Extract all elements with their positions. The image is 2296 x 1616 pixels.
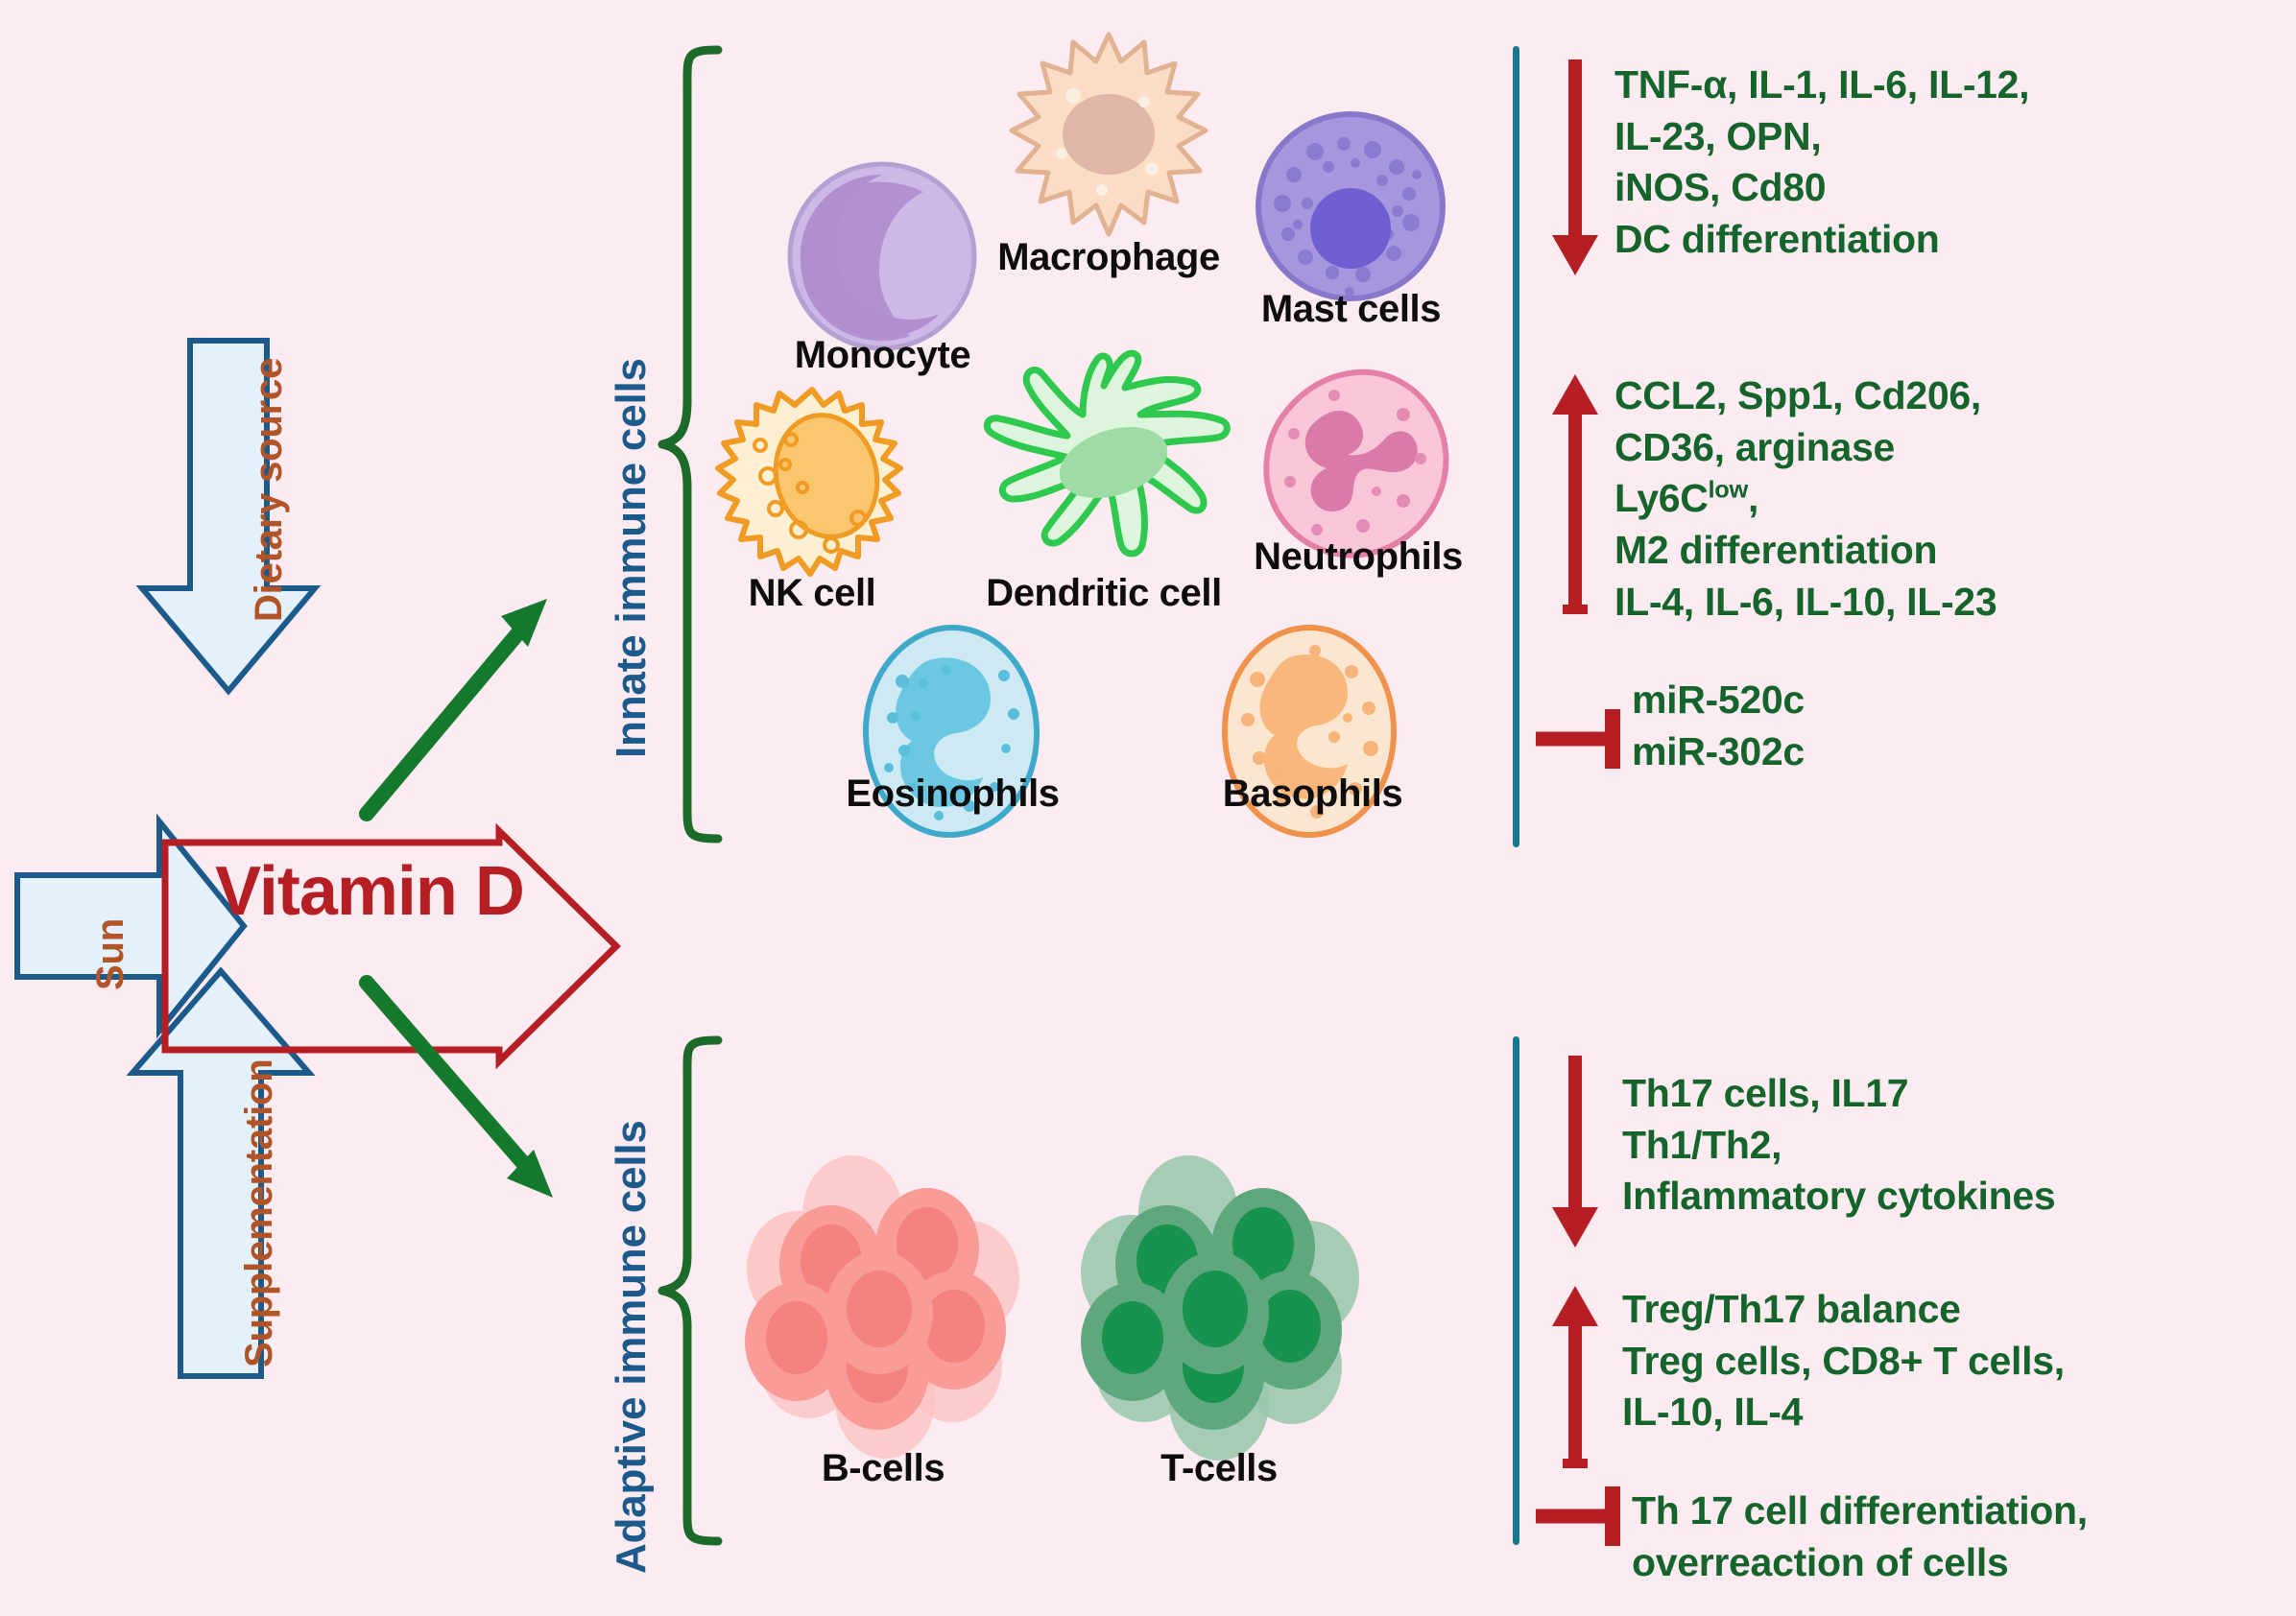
effect-line: Inflammatory cytokines	[1622, 1171, 2055, 1223]
adaptive-immune-cells-label: Adaptive immune cells	[608, 1120, 656, 1574]
adaptive-brace	[658, 1036, 726, 1545]
effect-line: Th17 cells, IL17	[1622, 1068, 2055, 1120]
effect-line: Th1/Th2,	[1622, 1120, 2055, 1172]
effect-line: Ly6Clow,	[1614, 473, 1997, 525]
dendritic-cell-label: Dendritic cell	[950, 572, 1257, 615]
dietary-source-label: Dietary source	[248, 358, 291, 622]
monocyte-label: Monocyte	[779, 334, 986, 377]
innate-divider	[1513, 46, 1519, 847]
mast-cells-figure	[1248, 104, 1454, 310]
vitamin-d-label: Vitamin D	[211, 852, 528, 931]
monocyte-figure	[779, 154, 986, 360]
basophils-label: Basophils	[1195, 772, 1430, 816]
effect-line: CCL2, Spp1, Cd206,	[1614, 370, 1997, 422]
innate-down-effects: TNF-α, IL-1, IL-6, IL-12, IL-23, OPN, iN…	[1614, 59, 2029, 266]
innate-up-effects: CCL2, Spp1, Cd206, CD36, arginase Ly6Clo…	[1614, 370, 1997, 629]
adaptive-up-effects: Treg/Th17 balance Treg cells, CD8+ T cel…	[1622, 1284, 2065, 1438]
adaptive-inhibit-symbol	[1536, 1483, 1620, 1550]
adaptive-down-effects: Th17 cells, IL17 Th1/Th2, Inflammatory c…	[1622, 1068, 2055, 1223]
effect-line: TNF-α, IL-1, IL-6, IL-12,	[1614, 59, 2029, 111]
neutrophils-label: Neutrophils	[1243, 535, 1473, 579]
connector-to-innate	[355, 566, 566, 825]
effect-line: miR-302c	[1632, 726, 1805, 778]
macrophage-figure	[998, 27, 1219, 248]
effect-line: IL-23, OPN,	[1614, 111, 2029, 163]
b-cells-label: B-cells	[739, 1447, 1027, 1490]
effect-line: Treg/Th17 balance	[1622, 1284, 2065, 1336]
effect-line: overreaction of cells	[1632, 1537, 2088, 1589]
neutrophils-figure	[1259, 367, 1456, 563]
adaptive-down-arrow	[1551, 1056, 1599, 1248]
b-cells-figure	[739, 1173, 1027, 1451]
adaptive-up-arrow	[1551, 1286, 1599, 1468]
macrophage-label: Macrophage	[960, 236, 1257, 279]
dendritic-cell-figure	[960, 347, 1248, 597]
innate-down-arrow	[1551, 59, 1599, 275]
adaptive-inhibit-effects: Th 17 cell differentiation, overreaction…	[1632, 1485, 2088, 1588]
innate-immune-cells-label: Innate immune cells	[608, 358, 656, 758]
dietary-source-arrow	[132, 341, 324, 696]
innate-inhibit-effects: miR-520c miR-302c	[1632, 675, 1805, 777]
t-cells-figure	[1075, 1173, 1363, 1451]
eosinophils-label: Eosinophils	[816, 772, 1089, 816]
effect-line: CD36, arginase	[1614, 422, 1997, 474]
innate-inhibit-symbol	[1536, 705, 1620, 772]
t-cells-label: T-cells	[1075, 1447, 1363, 1490]
effect-line: IL-10, IL-4	[1622, 1387, 2065, 1438]
innate-up-arrow	[1551, 374, 1599, 614]
effect-line: M2 differentiation	[1614, 525, 1997, 577]
supplementation-label: Supplementation	[238, 1059, 281, 1367]
effect-line: IL-4, IL-6, IL-10, IL-23	[1614, 577, 1997, 629]
connector-to-adaptive	[355, 969, 586, 1219]
effect-line: Treg cells, CD8+ T cells,	[1622, 1336, 2065, 1388]
effect-line: Th 17 cell differentiation,	[1632, 1485, 2088, 1537]
effect-line: DC differentiation	[1614, 214, 2029, 266]
effect-line: iNOS, Cd80	[1614, 162, 2029, 214]
mast-cells-label: Mast cells	[1238, 288, 1464, 331]
effect-line: miR-520c	[1632, 675, 1805, 726]
nk-cell-figure	[706, 384, 918, 595]
figure-canvas: Dietary source Sun Supplementation Vitam…	[0, 0, 2296, 1616]
nk-cell-label: NK cell	[706, 572, 918, 615]
adaptive-divider	[1513, 1036, 1519, 1545]
